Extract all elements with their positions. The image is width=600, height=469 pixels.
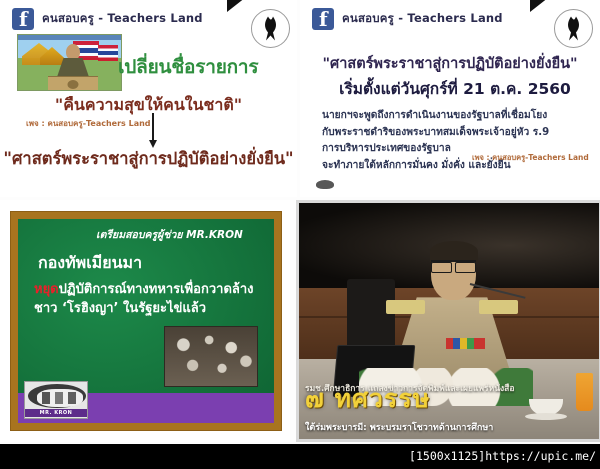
badge-figure bbox=[68, 392, 76, 404]
board-line1-rest: ปฏิบัติการณ์ทางทหารเพื่อกวาดล้าง bbox=[59, 282, 254, 297]
viewer-status-bar: [1500x1125]https://upic.me/ bbox=[0, 444, 600, 469]
photo-juice-glass bbox=[576, 373, 593, 411]
chalkboard: กองทัพเมียนมา หยุดปฏิบัติการณ์ทางทหารเพื… bbox=[18, 219, 274, 423]
rohingya-crowd-photo bbox=[164, 326, 258, 387]
image-viewer: คนสอบครู - Teachers Land bbox=[0, 0, 600, 469]
panel-bottom-right: รมช.ศึกษาธิการ แถลงข่าวการจัดพิมพ์และเผย… bbox=[293, 200, 600, 442]
speaker-head bbox=[66, 44, 80, 60]
podium-speech-thumbnail bbox=[17, 34, 122, 91]
black-mourning-ribbon-icon bbox=[564, 15, 584, 41]
photo-epaulette-right bbox=[479, 300, 518, 314]
ribbon-circle-frame bbox=[554, 9, 593, 48]
thai-flag-right bbox=[98, 45, 118, 61]
panel-bottom-left: กองทัพเมียนมา หยุดปฏิบัติการณ์ทางทหารเพื… bbox=[0, 200, 290, 442]
image-dimensions-label: [1500x1125] bbox=[409, 449, 485, 463]
page-credit-left: เพจ : คนสอบครู-Teachers Land bbox=[26, 117, 151, 130]
facebook-f-logo-icon bbox=[12, 8, 34, 30]
photo-epaulette-left bbox=[386, 300, 425, 314]
downward-arrow-icon bbox=[152, 113, 154, 141]
source-url-label[interactable]: https://upic.me/ bbox=[485, 449, 596, 463]
photo-coffee-cup bbox=[529, 399, 563, 415]
collage-image: คนสอบครู - Teachers Land bbox=[0, 0, 600, 444]
speaker-podium bbox=[48, 76, 98, 91]
photo-caption-title: ๗ ทศวรรษ bbox=[305, 379, 430, 419]
photo-chair bbox=[347, 279, 395, 350]
photo-medal-ribbons bbox=[446, 338, 485, 350]
board-footer-text: เตรียมสอบครูผู้ช่วย MR.KRON bbox=[96, 226, 243, 243]
photo-person-glasses bbox=[431, 260, 476, 272]
facebook-page-header-left: คนสอบครู - Teachers Land bbox=[12, 8, 203, 30]
badge-oval-inner bbox=[37, 389, 83, 407]
ribbon-circle-frame bbox=[251, 9, 290, 48]
facebook-page-header-right: คนสอบครู - Teachers Land bbox=[312, 8, 503, 30]
mourning-ribbon-corner-right bbox=[530, 0, 600, 60]
facebook-f-logo-icon bbox=[312, 8, 334, 30]
facebook-page-name: คนสอบครู - Teachers Land bbox=[342, 10, 503, 28]
board-title: กองทัพเมียนมา bbox=[38, 251, 142, 276]
subheadline-start-date: เริ่มตั้งแต่วันศุกร์ที่ 21 ต.ค. 2560 bbox=[310, 76, 600, 101]
headline-new-program-name: "ศาสตร์พระราชาสู่การปฏิบัติอย่างยั่งยืน" bbox=[0, 146, 297, 172]
panel-top-left: คนสอบครู - Teachers Land bbox=[0, 0, 297, 197]
board-line2: ชาว ‘โรฮิงญา’ ในรัฐยะไข่แล้ว bbox=[34, 301, 206, 316]
facebook-page-name: คนสอบครู - Teachers Land bbox=[42, 10, 203, 28]
body-line: กับพระราชดำริของพระบาทสมเด็จพระเจ้าอยู่ห… bbox=[322, 125, 594, 142]
badge-figure bbox=[55, 392, 63, 404]
badge-oval bbox=[28, 384, 86, 408]
page-credit-right: เพจ : คนสอบครู-Teachers Land bbox=[472, 152, 589, 164]
badge-figure bbox=[42, 392, 50, 404]
board-stop-word: หยุด bbox=[34, 282, 59, 297]
headline-green: เปลี่ยนชื่อรายการ bbox=[118, 57, 293, 79]
status-bar-text: [1500x1125]https://upic.me/ bbox=[409, 449, 596, 463]
panel-top-right: คนสอบครู - Teachers Land "ศาสตร์พระราชาส… bbox=[300, 0, 600, 197]
body-text: นายกฯจะพูดถึงการดำเนินงานของรัฐบาลที่เชื… bbox=[322, 108, 594, 174]
photo-caption-bottom: ใต้ร่มพระบารมี: พระบรมราโชวาทด้านการศึกษ… bbox=[305, 420, 493, 434]
decorative-blob bbox=[316, 180, 334, 189]
mourning-ribbon-corner-left bbox=[227, 0, 297, 60]
press-conference-photo: รมช.ศึกษาธิการ แถลงข่าวการจัดพิมพ์และเผย… bbox=[299, 203, 599, 439]
black-mourning-ribbon-icon bbox=[261, 15, 281, 41]
mr-kron-logo-badge: MR. KRON bbox=[24, 381, 88, 419]
badge-label: MR. KRON bbox=[25, 409, 87, 417]
body-line: นายกฯจะพูดถึงการดำเนินงานของรัฐบาลที่เชื… bbox=[322, 108, 594, 125]
chalkboard-frame: กองทัพเมียนมา หยุดปฏิบัติการณ์ทางทหารเพื… bbox=[10, 211, 282, 431]
headline-old-program-name: "คืนความสุขให้คนในชาติ" bbox=[0, 93, 297, 118]
board-body: หยุดปฏิบัติการณ์ทางทหารเพื่อกวาดล้าง ชาว… bbox=[34, 281, 274, 319]
thumb-top-banner bbox=[18, 35, 121, 40]
